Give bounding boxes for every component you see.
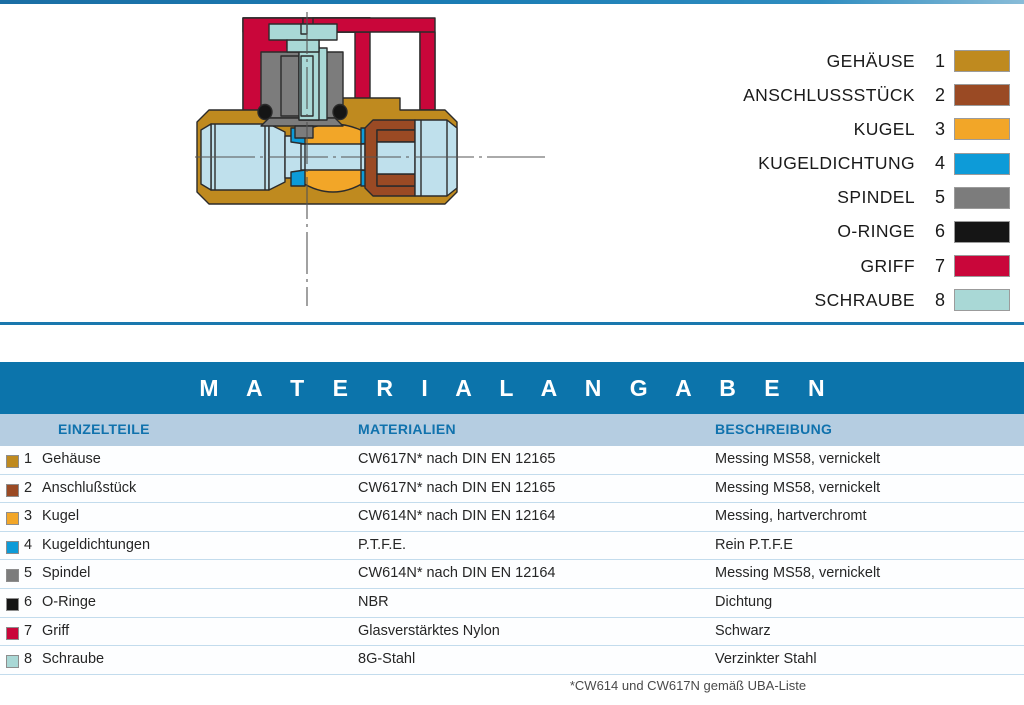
section-title: M A T E R I A L A N G A B E N xyxy=(188,375,835,402)
legend-item: SPINDEL 5 xyxy=(738,183,1010,213)
column-header-parts: EINZELTEILE xyxy=(58,421,150,437)
legend-color-swatch xyxy=(954,118,1010,140)
row-number: 5 xyxy=(24,565,32,581)
legend-item: KUGELDICHTUNG 4 xyxy=(738,149,1010,179)
legend-label: ANSCHLUSSSTÜCK xyxy=(743,85,915,106)
legend-label: KUGEL xyxy=(854,119,915,140)
materialangaben-banner: M A T E R I A L A N G A B E N xyxy=(0,362,1024,414)
table-row: 6 O-Ringe NBR Dichtung xyxy=(0,589,1024,618)
row-description: Messing MS58, vernickelt xyxy=(715,565,880,581)
table-header-row: EINZELTEILE MATERIALIEN BESCHREIBUNG xyxy=(0,414,1024,446)
table-row: 1 Gehäuse CW617N* nach DIN EN 12165 Mess… xyxy=(0,446,1024,475)
color-legend: GEHÄUSE 1 ANSCHLUSSSTÜCK 2 KUGEL 3 KUGEL… xyxy=(738,46,1010,320)
row-material: CW617N* nach DIN EN 12165 xyxy=(358,451,555,467)
row-part-name: Kugeldichtungen xyxy=(42,537,150,553)
row-part-name: Spindel xyxy=(42,565,90,581)
legend-item: KUGEL 3 xyxy=(738,114,1010,144)
row-number: 7 xyxy=(24,623,32,639)
row-color-swatch xyxy=(6,541,19,554)
legend-item: GEHÄUSE 1 xyxy=(738,46,1010,76)
column-header-materials: MATERIALIEN xyxy=(358,421,456,437)
row-color-swatch xyxy=(6,598,19,611)
row-part-name: O-Ringe xyxy=(42,594,96,610)
row-description: Dichtung xyxy=(715,594,772,610)
row-material: NBR xyxy=(358,594,389,610)
legend-number: 4 xyxy=(915,153,945,174)
row-color-swatch xyxy=(6,484,19,497)
legend-item: O-RINGE 6 xyxy=(738,217,1010,247)
legend-color-swatch xyxy=(954,187,1010,209)
row-description: Verzinkter Stahl xyxy=(715,651,817,667)
legend-number: 6 xyxy=(915,221,945,242)
table-row: 8 Schraube 8G-Stahl Verzinkter Stahl xyxy=(0,646,1024,675)
row-part-name: Anschlußstück xyxy=(42,480,136,496)
legend-item: ANSCHLUSSSTÜCK 2 xyxy=(738,80,1010,110)
legend-item: SCHRAUBE 8 xyxy=(738,285,1010,315)
legend-color-swatch xyxy=(954,50,1010,72)
table-row: 2 Anschlußstück CW617N* nach DIN EN 1216… xyxy=(0,475,1024,504)
row-material: Glasverstärktes Nylon xyxy=(358,623,500,639)
legend-number: 7 xyxy=(915,256,945,277)
row-number: 4 xyxy=(24,537,32,553)
section-divider-rule xyxy=(0,322,1024,325)
row-number: 2 xyxy=(24,480,32,496)
row-color-swatch xyxy=(6,627,19,640)
legend-number: 1 xyxy=(915,51,945,72)
row-description: Schwarz xyxy=(715,623,771,639)
table-row: 4 Kugeldichtungen P.T.F.E. Rein P.T.F.E xyxy=(0,532,1024,561)
row-material: CW614N* nach DIN EN 12164 xyxy=(358,508,555,524)
row-description: Messing MS58, vernickelt xyxy=(715,451,880,467)
row-color-swatch xyxy=(6,569,19,582)
material-specification-page: GEHÄUSE 1 ANSCHLUSSSTÜCK 2 KUGEL 3 KUGEL… xyxy=(0,0,1024,705)
legend-number: 5 xyxy=(915,187,945,208)
row-color-swatch xyxy=(6,455,19,468)
legend-color-swatch xyxy=(954,153,1010,175)
row-part-name: Kugel xyxy=(42,508,79,524)
legend-number: 2 xyxy=(915,85,945,106)
column-header-description: BESCHREIBUNG xyxy=(715,421,832,437)
row-part-name: Gehäuse xyxy=(42,451,101,467)
legend-label: SCHRAUBE xyxy=(815,290,915,311)
legend-number: 8 xyxy=(915,290,945,311)
legend-number: 3 xyxy=(915,119,945,140)
row-number: 1 xyxy=(24,451,32,467)
table-row: 5 Spindel CW614N* nach DIN EN 12164 Mess… xyxy=(0,560,1024,589)
legend-label: O-RINGE xyxy=(837,221,915,242)
row-description: Messing, hartverchromt xyxy=(715,508,867,524)
row-color-swatch xyxy=(6,512,19,525)
row-number: 6 xyxy=(24,594,32,610)
legend-color-swatch xyxy=(954,255,1010,277)
legend-item: GRIFF 7 xyxy=(738,251,1010,281)
row-color-swatch xyxy=(6,655,19,668)
row-number: 3 xyxy=(24,508,32,524)
row-description: Messing MS58, vernickelt xyxy=(715,480,880,496)
valve-diagram-area xyxy=(0,4,740,320)
row-material: CW617N* nach DIN EN 12165 xyxy=(358,480,555,496)
row-number: 8 xyxy=(24,651,32,667)
legend-label: GRIFF xyxy=(861,256,916,277)
legend-color-swatch xyxy=(954,84,1010,106)
legend-color-swatch xyxy=(954,221,1010,243)
ball-valve-cross-section-diagram xyxy=(195,10,545,310)
legend-label: KUGELDICHTUNG xyxy=(758,153,915,174)
row-part-name: Schraube xyxy=(42,651,104,667)
legend-color-swatch xyxy=(954,289,1010,311)
row-material: 8G-Stahl xyxy=(358,651,415,667)
row-material: CW614N* nach DIN EN 12164 xyxy=(358,565,555,581)
legend-label: SPINDEL xyxy=(837,187,915,208)
table-row: 7 Griff Glasverstärktes Nylon Schwarz xyxy=(0,618,1024,647)
materials-table: EINZELTEILE MATERIALIEN BESCHREIBUNG 1 G… xyxy=(0,414,1024,675)
legend-label: GEHÄUSE xyxy=(827,51,915,72)
row-part-name: Griff xyxy=(42,623,69,639)
table-footnote: *CW614 und CW617N gemäß UBA-Liste xyxy=(358,678,1018,693)
table-row: 3 Kugel CW614N* nach DIN EN 12164 Messin… xyxy=(0,503,1024,532)
row-description: Rein P.T.F.E xyxy=(715,537,793,553)
row-material: P.T.F.E. xyxy=(358,537,406,553)
